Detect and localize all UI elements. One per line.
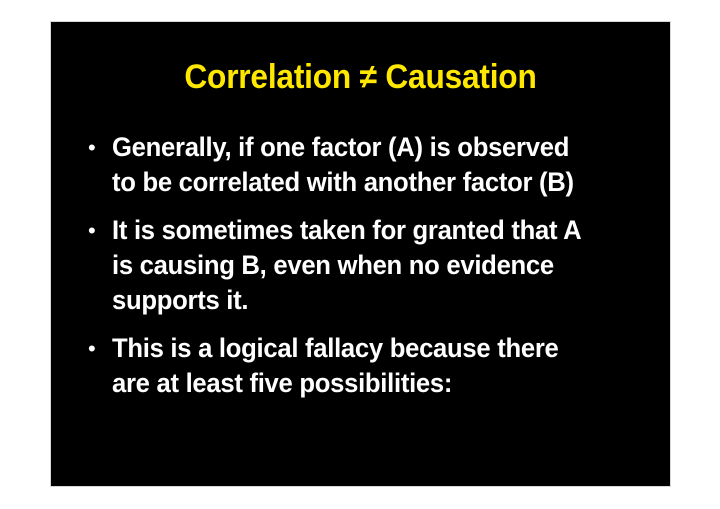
- list-item-line: is causing B, even when no evidence: [112, 248, 639, 283]
- bullet-point-icon: •: [88, 213, 106, 248]
- list-item-line: are at least five possibilities:: [112, 366, 639, 401]
- list-item-line: It is sometimes taken for granted that A: [112, 213, 639, 248]
- list-item: • This is a logical fallacy because ther…: [87, 331, 667, 401]
- list-item-line: to be correlated with another factor (B): [112, 165, 639, 200]
- list-item-text: This is a logical fallacy because there …: [112, 331, 639, 401]
- bullet-list: • Generally, if one factor (A) is observ…: [87, 130, 667, 401]
- list-item-line: Generally, if one factor (A) is observed: [112, 130, 639, 165]
- list-item-line: supports it.: [112, 283, 639, 318]
- page-title: Correlation ≠ Causation: [73, 58, 649, 96]
- list-item-text: Generally, if one factor (A) is observed…: [112, 130, 639, 200]
- list-item-text: It is sometimes taken for granted that A…: [112, 213, 639, 318]
- list-item: • Generally, if one factor (A) is observ…: [87, 130, 667, 200]
- list-item: • It is sometimes taken for granted that…: [87, 213, 667, 318]
- bullet-point-icon: •: [88, 331, 106, 366]
- bullet-point-icon: •: [88, 130, 106, 165]
- slide-page: Correlation ≠ Causation • Generally, if …: [0, 0, 720, 509]
- list-item-line: This is a logical fallacy because there: [112, 331, 639, 366]
- slide-canvas: Correlation ≠ Causation • Generally, if …: [51, 22, 670, 486]
